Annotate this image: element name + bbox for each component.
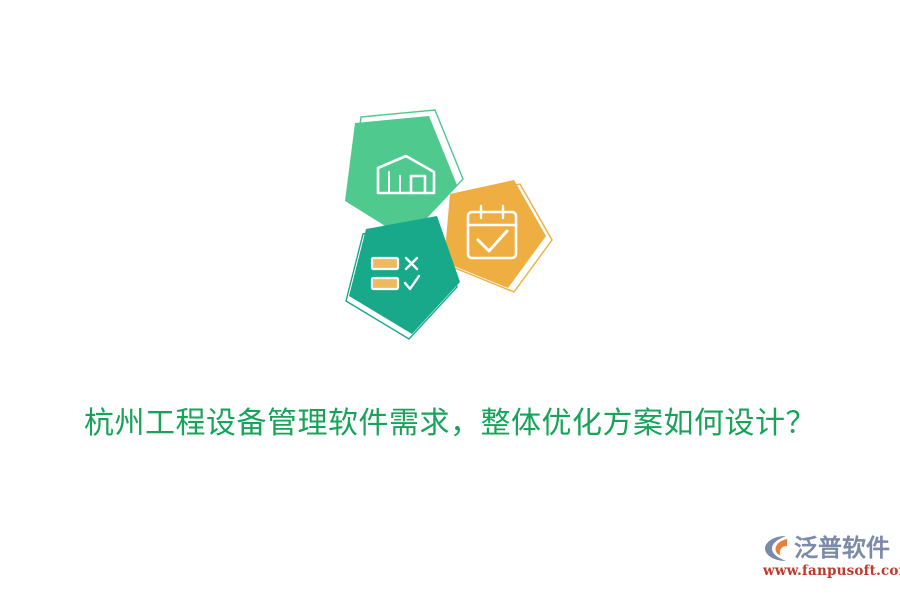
pentagon-equipment [345,110,463,239]
brand-name: 泛普软件 [794,534,890,562]
page-root: 杭州工程设备管理软件需求，整体优化方案如何设计？ 泛普软件 www.fanpus… [0,0,900,600]
brand-url: www.fanpusoft.com [762,563,892,579]
pentagon-schedule-body [444,180,546,288]
hero-illustration [298,100,560,352]
brand-watermark: 泛普软件 www.fanpusoft.com [762,531,892,583]
pentagon-checklist-body [349,216,460,334]
pentagon-checklist [346,216,460,339]
pentagon-schedule [444,180,552,292]
fanpu-c-arc-logo-icon [762,533,792,563]
page-title: 杭州工程设备管理软件需求，整体优化方案如何设计？ [0,402,900,446]
brand-row: 泛普软件 [762,531,892,565]
checklist-bar-1 [372,258,398,269]
checklist-bar-2 [372,278,398,289]
